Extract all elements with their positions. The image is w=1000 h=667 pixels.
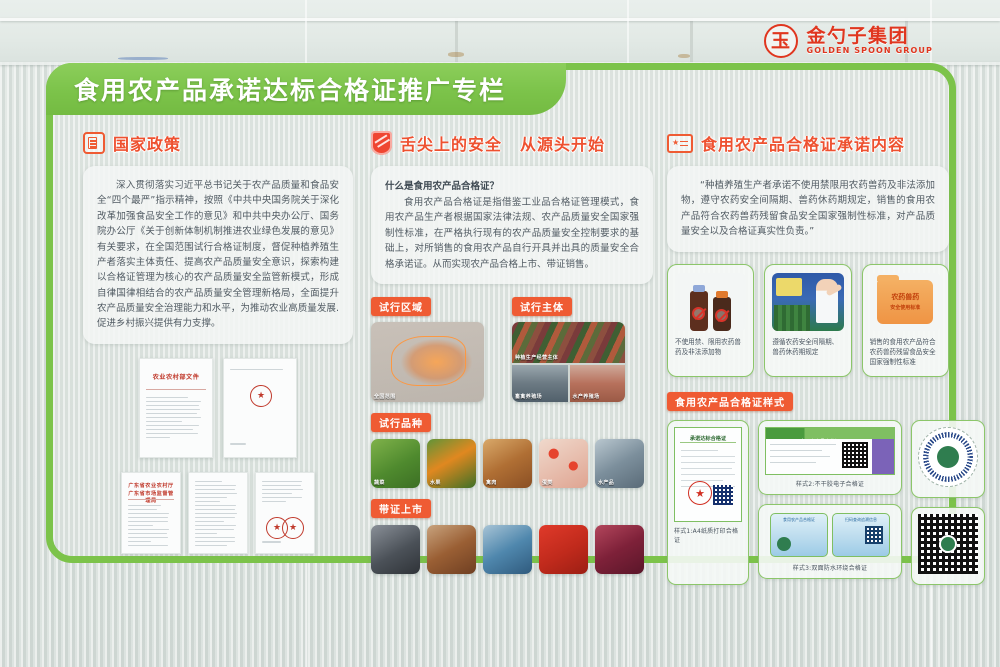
round-traceability-label-image: [918, 427, 978, 487]
tag-trial-variety: 试行品种: [371, 413, 431, 432]
brand-name-cn: 金勺子集团: [807, 27, 933, 47]
wall-rust-stain: [678, 54, 690, 58]
promise-card[interactable]: 遵循农药安全间隔期、兽药休药期规定: [764, 264, 851, 378]
promise-card-text: 不使用禁、限用农药兽药及非法添加物: [675, 337, 746, 357]
image-caption: 水产品: [598, 479, 614, 486]
image-caption: 蛋类: [542, 479, 553, 486]
policy-document-thumbnail[interactable]: [255, 472, 315, 554]
policy-paragraph-card: 深入贯彻落实习近平总书记关于农产品质量和食品安全“四个最严”指示精神，按照《中共…: [83, 166, 353, 344]
section-subtitle: 从源头开始: [520, 131, 605, 155]
image-caption: 水果: [430, 479, 441, 486]
certified-market-images: [371, 525, 653, 574]
policy-documents-row-2: 广东省农业农村厅 广东省市场监督管理局: [83, 472, 353, 554]
certificate-caption: 样式1:A4纸质打印合格证: [674, 526, 742, 544]
a4-certificate-image: 承诺达标合格证: [674, 427, 742, 522]
promise-card[interactable]: 农药兽药 安全使用标准 销售的食用农产品符合农药兽药残留食品安全国家强制性标准: [862, 264, 949, 378]
promise-card[interactable]: 不使用禁、限用农药兽药及非法添加物: [667, 264, 754, 378]
red-seal-icon: [282, 517, 304, 539]
qr-traceability-code-image: [918, 514, 978, 574]
qr-code-icon: [865, 526, 883, 544]
certified-box-image[interactable]: [539, 525, 588, 574]
definition-question: 什么是食用农产品合格证？: [385, 178, 639, 192]
certificate-sample-round-label[interactable]: [911, 420, 985, 498]
eggs-image[interactable]: 蛋类: [539, 439, 588, 488]
section-title: 舌尖上的安全: [400, 131, 502, 155]
board-title-banner: 食用农产品承诺达标合格证推广专栏: [46, 63, 566, 115]
certificate-samples-section: 食用农产品合格证样式 承诺达标合格证: [667, 391, 949, 585]
standards-folder-icon: 农药兽药 安全使用标准: [870, 273, 941, 331]
certificate-caption: 样式3:双面防水环绕合格证: [793, 563, 867, 572]
tag-trial-region: 试行区域: [371, 297, 431, 316]
wall-rust-stain: [448, 52, 464, 57]
aquatic-products-image[interactable]: 水产品: [595, 439, 644, 488]
image-caption: 全国范围: [374, 393, 396, 400]
livestock-farm-image: 畜禽养殖场: [512, 365, 568, 402]
section-title: 食用农产品合格证承诺内容: [701, 131, 905, 155]
image-caption: 种植生产经营主体: [515, 354, 558, 361]
section-header-national-policy: 国家政策: [83, 130, 353, 156]
document-icon: [83, 132, 105, 154]
trial-variety-images: 蔬菜 水果 禽肉 蛋类 水产品: [371, 439, 653, 488]
waterproof-certificate-image: 食用农产品合格证 扫码查询追溯信息: [765, 511, 895, 559]
promise-cards-row: 不使用禁、限用农药兽药及非法添加物 遵循农药安全间隔期、兽药休药期规定 农药兽药: [667, 264, 949, 378]
tag-certified-to-market: 带证上市: [371, 499, 431, 518]
pesticide-bottles-banned-icon: [675, 273, 746, 331]
qr-code-icon: [842, 442, 868, 468]
promise-card-text: 遵循农药安全间隔期、兽药休药期规定: [772, 337, 843, 357]
policy-paragraph-text: 深入贯彻落实习近平总书记关于农产品质量和食品安全“四个最严”指示精神，按照《中共…: [97, 178, 339, 332]
policy-document-thumbnail[interactable]: 农业农村部文件: [139, 358, 213, 458]
farmland-aerial-image: 种植生产经营主体: [512, 322, 625, 363]
certificate-caption: 样式2:不干胶电子合格证: [796, 479, 864, 488]
certificate-sample-waterproof[interactable]: 食用农产品合格证 扫码查询追溯信息 样式3:双面防水环绕合格证: [758, 504, 902, 579]
wall-background: 食用农产品承诺达标合格证推广专栏 玉 金勺子集团 GOLDEN SPOON GR…: [0, 0, 1000, 667]
trial-subject-images[interactable]: 种植生产经营主体 畜禽养殖场 水产养殖场: [512, 322, 625, 402]
tag-certificate-styles: 食用农产品合格证样式: [667, 392, 793, 411]
fruits-image[interactable]: 水果: [427, 439, 476, 488]
certificate-doc-title: 承诺达标合格证: [675, 435, 741, 442]
policy-document-thumbnail[interactable]: [223, 358, 297, 458]
document-title: 广东省农业农村厅 广东省市场监督管理局: [128, 483, 174, 506]
aquaculture-farm-image: 水产养殖场: [570, 365, 626, 402]
definition-paragraph-card: 什么是食用农产品合格证？ 食用农产品合格证是指借鉴工业品合格证管理模式，食用农产…: [371, 166, 653, 284]
column-national-policy: 国家政策 深入贯彻落实习近平总书记关于农产品质量和食品安全“四个最严”指示精神，…: [83, 130, 353, 554]
red-seal-icon: [688, 481, 712, 505]
crab-sale-image[interactable]: [427, 525, 476, 574]
image-caption: 禽肉: [486, 479, 497, 486]
vegetables-image[interactable]: 蔬菜: [371, 439, 420, 488]
brand-name-en: GOLDEN SPOON GROUP: [807, 47, 933, 55]
market-scale-image[interactable]: [371, 525, 420, 574]
certificate-sample-a4[interactable]: 承诺达标合格证 样式1:A4纸质打印合格证: [667, 420, 749, 585]
tag-trial-subject: 试行主体: [512, 297, 572, 316]
section-title: 国家政策: [113, 131, 181, 155]
poultry-image[interactable]: 禽肉: [483, 439, 532, 488]
wall-seam: [0, 18, 1000, 21]
national-emblem-seal-icon: [250, 385, 272, 407]
lab-inspector-icon: [772, 273, 843, 331]
shield-icon: [371, 131, 392, 155]
definition-text: 食用农产品合格证是指借鉴工业品合格证管理模式，食用农产品生产者根据国家法律法规、…: [385, 195, 639, 272]
certificate-samples-row: 承诺达标合格证 样式1:A4纸质打印合格证: [667, 420, 949, 585]
promotion-board: 食用农产品承诺达标合格证推广专栏 玉 金勺子集团 GOLDEN SPOON GR…: [46, 63, 956, 563]
image-caption: 畜禽养殖场: [515, 393, 542, 400]
promise-text: “种植养殖生产者承诺不使用禁限用农药兽药及非法添加物，遵守农药安全间隔期、兽药休…: [681, 178, 935, 240]
wall-paint-streak: [118, 57, 168, 60]
page-title: 食用农产品承诺达标合格证推广专栏: [74, 71, 506, 107]
section-header-promise: 食用农产品合格证承诺内容: [667, 130, 949, 156]
brand-logo: 玉 金勺子集团 GOLDEN SPOON GROUP: [764, 24, 933, 58]
certificate-card-icon: [667, 134, 693, 153]
column-promise-content: 食用农产品合格证承诺内容 “种植养殖生产者承诺不使用禁限用农药兽药及非法添加物，…: [667, 130, 949, 585]
column-food-safety: 舌尖上的安全 从源头开始 什么是食用农产品合格证？ 食用农产品合格证是指借鉴工业…: [371, 130, 653, 574]
packed-grapes-image[interactable]: [595, 525, 644, 574]
image-caption: 水产养殖场: [573, 393, 600, 400]
promise-paragraph-card: “种植养殖生产者承诺不使用禁限用农药兽药及非法添加物，遵守农药安全间隔期、兽药休…: [667, 166, 949, 252]
certificate-sample-qr[interactable]: [911, 507, 985, 585]
folder-label-line1: 农药兽药: [891, 292, 919, 302]
policy-document-thumbnail[interactable]: 广东省农业农村厅 广东省市场监督管理局: [121, 472, 181, 554]
logo-emblem-icon: 玉: [764, 24, 798, 58]
qr-code-icon: [713, 485, 733, 505]
document-title: 农业农村部文件: [146, 373, 206, 382]
label-gun-image[interactable]: [483, 525, 532, 574]
certificate-sample-sticker[interactable]: 食用农产品合格证 样式2:不干胶电子合格证: [758, 420, 902, 495]
logo-glyph: 玉: [771, 32, 790, 51]
section-header-food-safety: 舌尖上的安全 从源头开始: [371, 130, 653, 156]
folder-label-line2: 安全使用标准: [890, 304, 920, 311]
policy-documents-row-1: 农业农村部文件: [83, 358, 353, 458]
promise-card-text: 销售的食用农产品符合农药兽药残留食品安全国家强制性标准: [870, 337, 941, 368]
sticker-certificate-image: 食用农产品合格证: [765, 427, 895, 475]
image-caption: 蔬菜: [374, 479, 385, 486]
policy-document-thumbnail[interactable]: [188, 472, 248, 554]
china-map-image[interactable]: 全国范围: [371, 322, 484, 402]
